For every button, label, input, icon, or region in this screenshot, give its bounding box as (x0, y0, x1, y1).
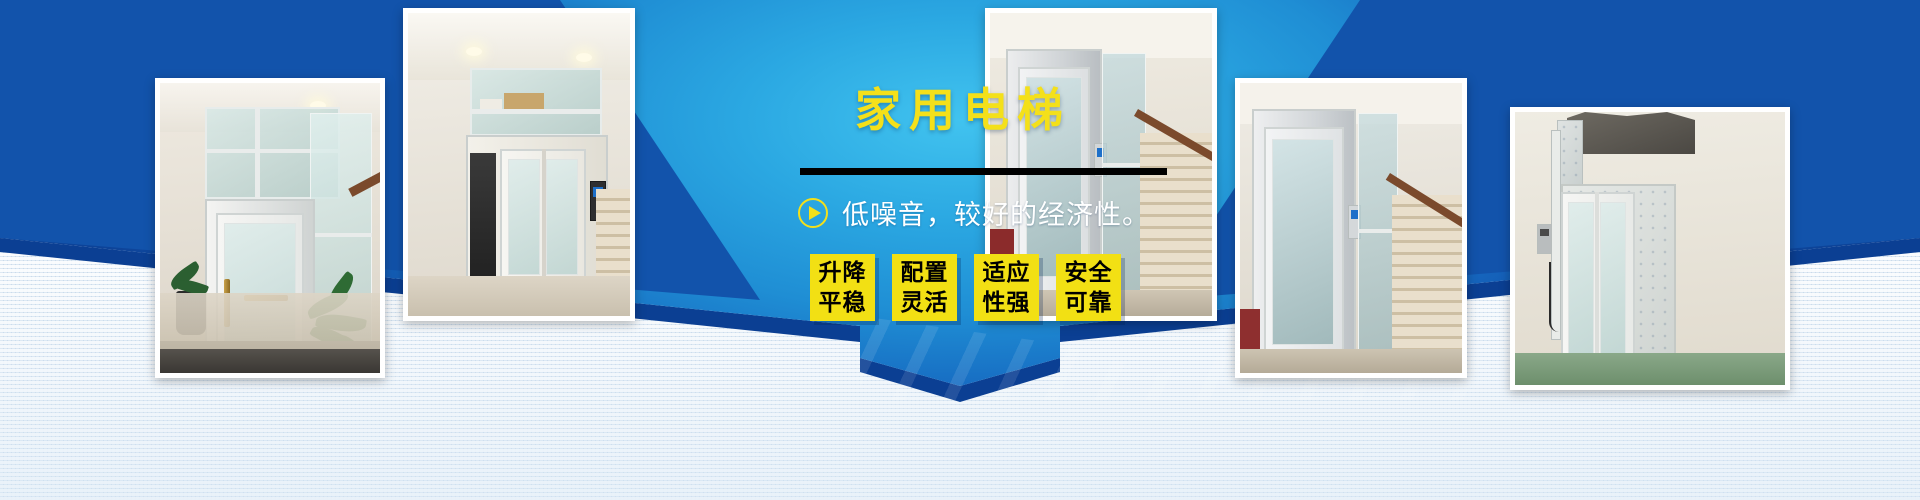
feature-tag[interactable]: 安全 可靠 (1056, 254, 1121, 321)
feature-tag[interactable]: 配置 灵活 (892, 254, 957, 321)
home-elevator-promo-banner: 家用电梯 低噪音，较好的经济性。 升降 平稳 配置 灵活 适应 性强 安全 可靠 (0, 0, 1920, 500)
home-elevator-glass-shaft-beside-stairs (408, 13, 630, 316)
feature-tag-line2: 可靠 (1065, 288, 1113, 318)
photo-card-5 (1510, 107, 1790, 390)
photo-card-1 (155, 78, 385, 378)
feature-tag-line1: 适应 (983, 258, 1031, 288)
photo-card-2 (403, 8, 635, 321)
feature-tag-line1: 升降 (819, 258, 867, 288)
feature-tag-line2: 灵活 (901, 288, 949, 318)
banner-subtitle: 低噪音，较好的经济性。 (842, 193, 1150, 232)
circle-play-arrow-icon (798, 198, 828, 228)
banner-text-block: 家用电梯 低噪音，较好的经济性。 升降 平稳 配置 灵活 适应 性强 安全 可靠 (650, 0, 1270, 400)
home-elevator-under-installation (1515, 112, 1785, 385)
subtitle-row: 低噪音，较好的经济性。 (798, 193, 1150, 232)
page-title: 家用电梯 (855, 74, 1071, 140)
home-elevator-white-door-with-plant (160, 83, 380, 373)
feature-tag[interactable]: 适应 性强 (974, 254, 1039, 321)
feature-tag-line2: 性强 (983, 288, 1031, 318)
feature-tag-line2: 平稳 (819, 288, 867, 318)
feature-tag-line1: 安全 (1065, 258, 1113, 288)
feature-tag-line1: 配置 (901, 258, 949, 288)
feature-tag[interactable]: 升降 平稳 (810, 254, 875, 321)
feature-tag-list: 升降 平稳 配置 灵活 适应 性强 安全 可靠 (810, 254, 1121, 321)
stainless-home-elevator-interior (1240, 83, 1462, 373)
title-divider (800, 168, 1167, 175)
